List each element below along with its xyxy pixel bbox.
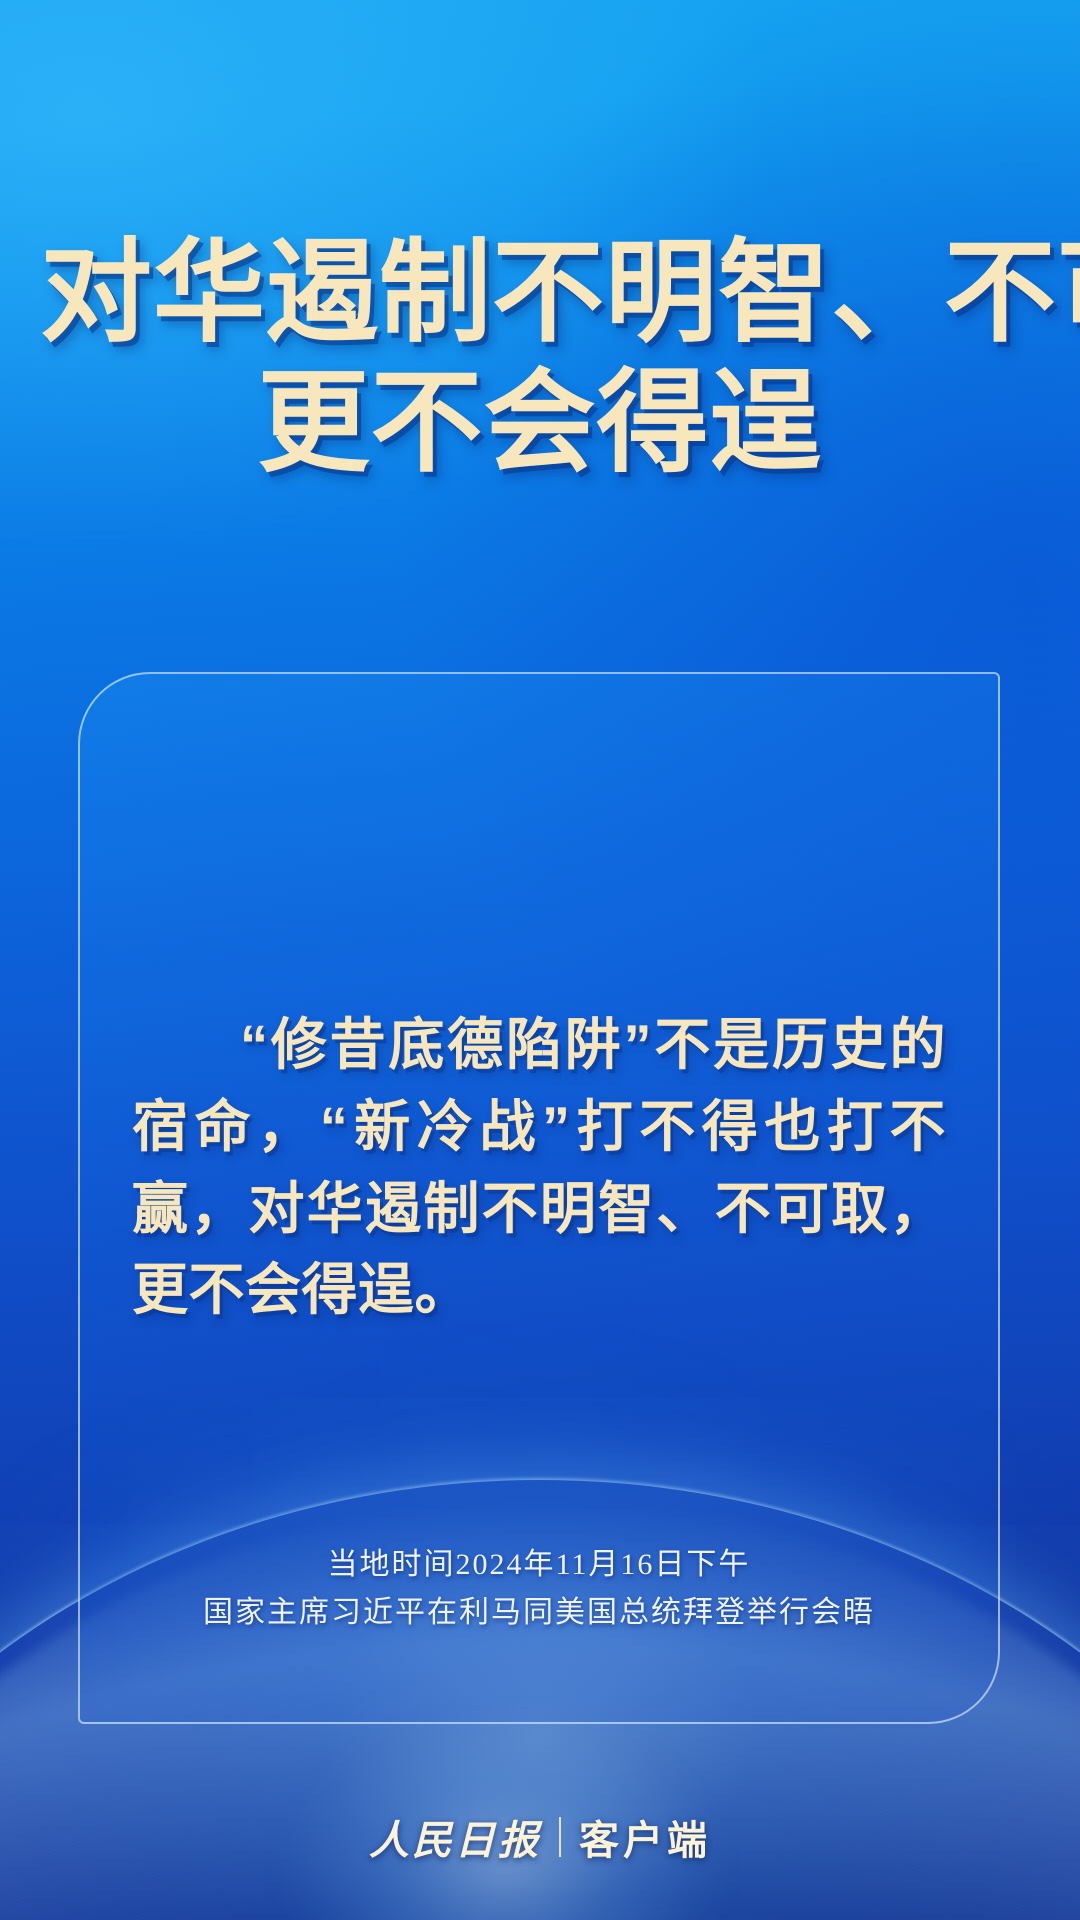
footer-logo: 人民日报 客户端 bbox=[0, 1808, 1080, 1866]
headline: 对华遏制不明智、不可取 更不会得逞 bbox=[0, 228, 1080, 488]
quote-card: “修昔底德陷阱”不是历史的宿命，“新冷战”打不得也打不赢，对华遏制不明智、不可取… bbox=[78, 672, 1000, 1724]
headline-line-1: 对华遏制不明智、不可取 bbox=[40, 228, 1040, 358]
headline-line-2: 更不会得逞 bbox=[40, 358, 1040, 488]
people-daily-brand-logo: 人民日报 bbox=[369, 1808, 541, 1866]
app-client-label: 客户端 bbox=[579, 1808, 711, 1866]
logo-divider bbox=[559, 1817, 561, 1857]
quote-text: “修昔底德陷阱”不是历史的宿命，“新冷战”打不得也打不赢，对华遏制不明智、不可取… bbox=[132, 1004, 946, 1331]
caption-line-1: 当地时间2024年11月16日下午 bbox=[120, 1541, 958, 1588]
poster-root: 对华遏制不明智、不可取 更不会得逞 “修昔底德陷阱”不是历史的宿命，“新冷战”打… bbox=[0, 0, 1080, 1920]
caption-line-2: 国家主席习近平在利马同美国总统拜登举行会晤 bbox=[120, 1589, 958, 1636]
caption: 当地时间2024年11月16日下午 国家主席习近平在利马同美国总统拜登举行会晤 bbox=[120, 1541, 958, 1636]
